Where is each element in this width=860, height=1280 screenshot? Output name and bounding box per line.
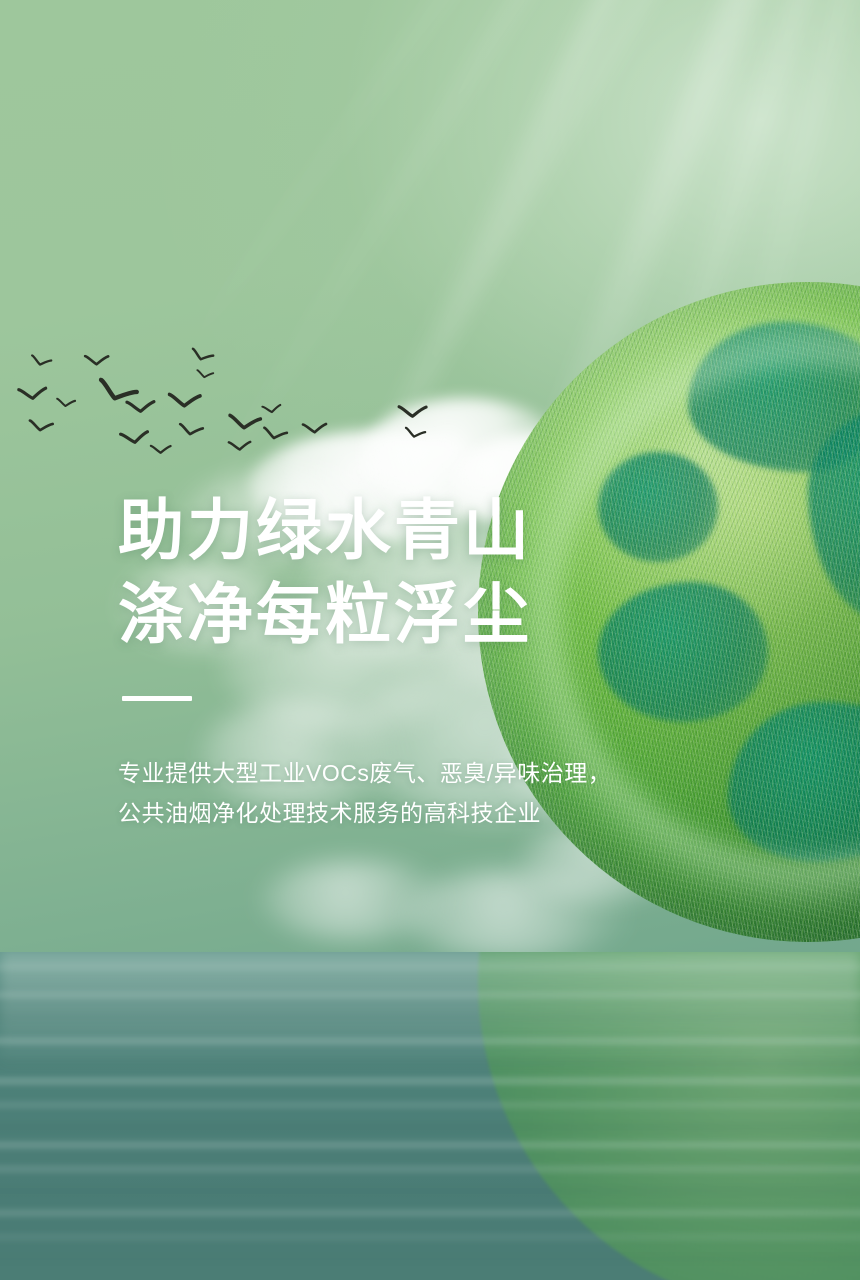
water-ripple-line (0, 1078, 860, 1084)
water-ripple-line (0, 1256, 860, 1262)
water-horizon-haze (0, 952, 860, 1072)
water-ripple-line (0, 1188, 860, 1194)
water-ripple-line (0, 1234, 860, 1240)
subtitle-line-1: 专业提供大型工业VOCs废气、恶臭/异味治理， (118, 753, 678, 793)
headline-line-2: 涤净每粒浮尘 (118, 572, 678, 656)
water-surface (0, 952, 860, 1280)
water-ripple-line (0, 1142, 860, 1148)
water-ripple-line (0, 1210, 860, 1216)
headline-divider (122, 696, 192, 701)
subtitle-line-2: 公共油烟净化处理技术服务的高科技企业 (118, 793, 678, 833)
headline-line-1: 助力绿水青山 (118, 488, 678, 572)
water-ripple-line (0, 1102, 860, 1108)
hero-text-block: 助力绿水青山 涤净每粒浮尘 专业提供大型工业VOCs废气、恶臭/异味治理， 公共… (118, 488, 678, 833)
poster-banner: 助力绿水青山 涤净每粒浮尘 专业提供大型工业VOCs废气、恶臭/异味治理， 公共… (0, 0, 860, 1280)
water-ripple-line (0, 1166, 860, 1172)
water-ripple-line (0, 1124, 860, 1130)
